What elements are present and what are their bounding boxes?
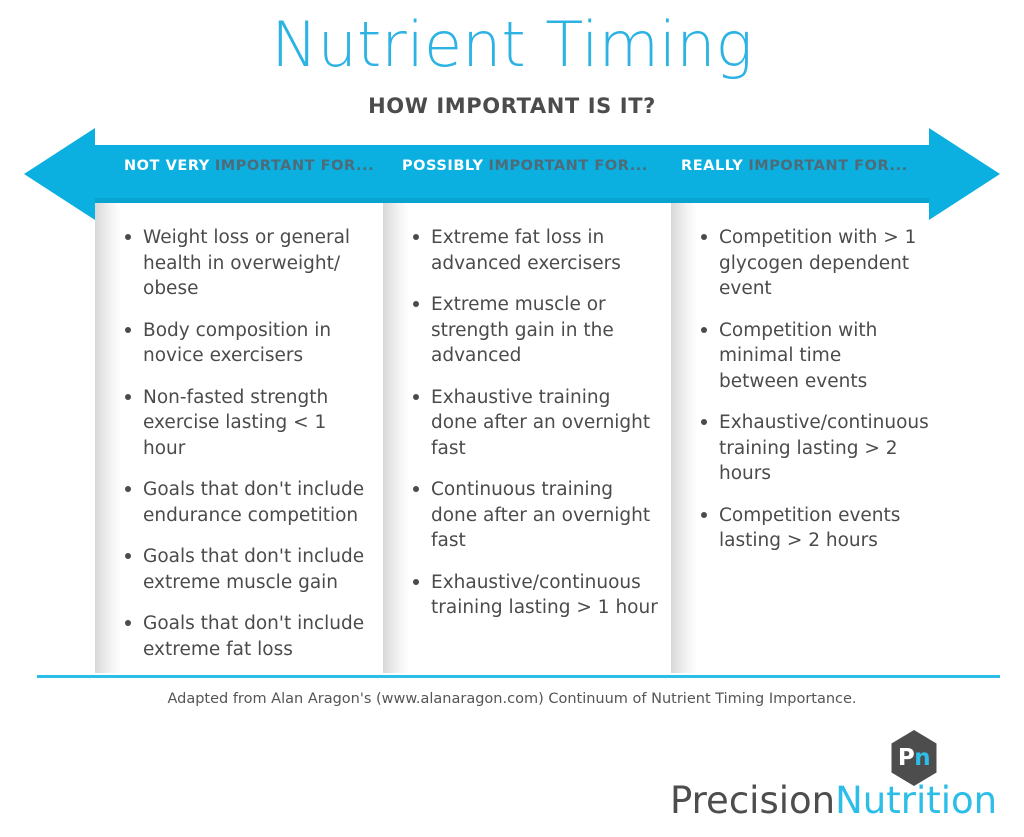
list-item-text: Continuous training done after an overni…: [431, 479, 650, 551]
bullet-dot-icon: [125, 327, 131, 333]
column-headers: NOT VERY IMPORTANT FOR... POSSIBLY IMPOR…: [95, 128, 927, 203]
bullet-dot-icon: [701, 234, 707, 240]
list-item-text: Competition events lasting > 2 hours: [719, 505, 900, 552]
bullet-dot-icon: [701, 512, 707, 518]
list-item: Weight loss or general health in overwei…: [125, 225, 374, 302]
bullet-dot-icon: [701, 327, 707, 333]
monogram-n: n: [914, 747, 930, 770]
list-item: Extreme muscle or strength gain in the a…: [413, 292, 662, 369]
list-item-text: Extreme fat loss in advanced exercisers: [431, 227, 621, 274]
footer-divider: [37, 675, 1000, 678]
bullet-dot-icon: [125, 234, 131, 240]
bullet-list-really: Competition with > 1 glycogen dependent …: [671, 203, 927, 554]
infographic-poster: Nutrient Timing HOW IMPORTANT IS IT? NOT…: [0, 0, 1024, 837]
column-header-emphasis: POSSIBLY: [402, 158, 484, 174]
column-header-really: REALLY IMPORTANT FOR...: [670, 128, 927, 203]
list-item-text: Non-fasted strength exercise lasting < 1…: [143, 387, 328, 459]
list-item-text: Goals that don't include extreme muscle …: [143, 546, 364, 593]
logo-word-precision: Precision: [670, 779, 835, 822]
column-header-not-very: NOT VERY IMPORTANT FOR...: [95, 128, 382, 203]
column-panel-really: Competition with > 1 glycogen dependent …: [671, 203, 927, 673]
list-item-text: Competition with minimal time between ev…: [719, 320, 877, 392]
list-item: Goals that don't include extreme muscle …: [125, 544, 374, 595]
column-header-possibly: POSSIBLY IMPORTANT FOR...: [382, 128, 670, 203]
column-header-emphasis: REALLY: [681, 158, 743, 174]
list-item: Competition with minimal time between ev…: [701, 318, 919, 395]
page-title: Nutrient Timing: [0, 6, 1024, 84]
column-panels: Weight loss or general health in overwei…: [95, 203, 927, 673]
bullet-dot-icon: [413, 394, 419, 400]
source-credit: Adapted from Alan Aragon's (www.alanarag…: [0, 688, 1024, 710]
column-header-rest: IMPORTANT FOR...: [489, 158, 648, 174]
list-item: Non-fasted strength exercise lasting < 1…: [125, 385, 374, 462]
column-panel-possibly: Extreme fat loss in advanced exercisers …: [383, 203, 670, 673]
bullet-dot-icon: [413, 301, 419, 307]
bullet-dot-icon: [125, 553, 131, 559]
list-item-text: Competition with > 1 glycogen dependent …: [719, 227, 916, 299]
list-item-text: Exhaustive/continuous training lasting >…: [719, 412, 929, 484]
bullet-dot-icon: [125, 394, 131, 400]
logo-wordmark: PrecisionNutrition: [670, 779, 940, 823]
column-panel-not-very: Weight loss or general health in overwei…: [95, 203, 382, 673]
bullet-dot-icon: [701, 419, 707, 425]
column-header-rest: IMPORTANT FOR...: [215, 158, 374, 174]
bullet-list-not-very: Weight loss or general health in overwei…: [95, 203, 382, 662]
bullet-dot-icon: [413, 234, 419, 240]
list-item: Competition events lasting > 2 hours: [701, 503, 919, 554]
list-item: Competition with > 1 glycogen dependent …: [701, 225, 919, 302]
monogram-p: P: [898, 747, 914, 770]
list-item-text: Exhaustive training done after an overni…: [431, 387, 650, 459]
list-item: Exhaustive training done after an overni…: [413, 385, 662, 462]
bullet-dot-icon: [125, 620, 131, 626]
list-item: Exhaustive/continuous training lasting >…: [701, 410, 919, 487]
list-item: Body composition in novice exercisers: [125, 318, 374, 369]
page-subtitle: HOW IMPORTANT IS IT?: [0, 92, 1024, 120]
bullet-dot-icon: [125, 486, 131, 492]
list-item: Goals that don't include endurance compe…: [125, 477, 374, 528]
column-header-rest: IMPORTANT FOR...: [748, 158, 907, 174]
list-item-text: Goals that don't include extreme fat los…: [143, 613, 364, 660]
precision-nutrition-logo: Pn PrecisionNutrition: [670, 729, 940, 829]
column-header-emphasis: NOT VERY: [124, 158, 210, 174]
list-item: Extreme fat loss in advanced exercisers: [413, 225, 662, 276]
list-item-text: Exhaustive/continuous training lasting >…: [431, 572, 658, 619]
bullet-dot-icon: [413, 486, 419, 492]
list-item-text: Extreme muscle or strength gain in the a…: [431, 294, 614, 366]
list-item-text: Goals that don't include endurance compe…: [143, 479, 364, 526]
list-item: Continuous training done after an overni…: [413, 477, 662, 554]
bullet-dot-icon: [413, 579, 419, 585]
list-item-text: Weight loss or general health in overwei…: [143, 227, 350, 299]
bullet-list-possibly: Extreme fat loss in advanced exercisers …: [383, 203, 670, 621]
list-item: Goals that don't include extreme fat los…: [125, 611, 374, 662]
list-item: Exhaustive/continuous training lasting >…: [413, 570, 662, 621]
list-item-text: Body composition in novice exercisers: [143, 320, 331, 367]
logo-word-nutrition: Nutrition: [835, 779, 997, 822]
